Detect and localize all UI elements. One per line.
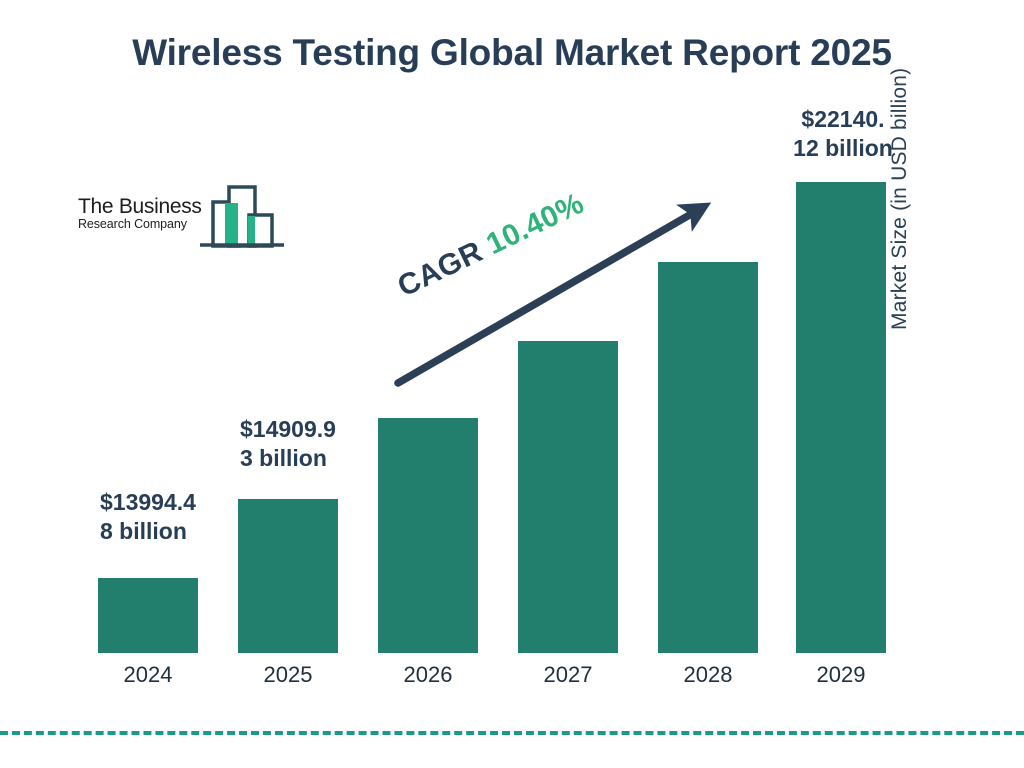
footer-divider <box>0 731 1024 735</box>
bar-chart-plot-area: $13994.4 8 billion $14909.9 3 billion $2… <box>0 0 1024 768</box>
growth-arrow-icon <box>0 0 1024 768</box>
y-axis-label: Market Size (in USD billion) <box>888 30 912 330</box>
chart-page: Wireless Testing Global Market Report 20… <box>0 0 1024 768</box>
